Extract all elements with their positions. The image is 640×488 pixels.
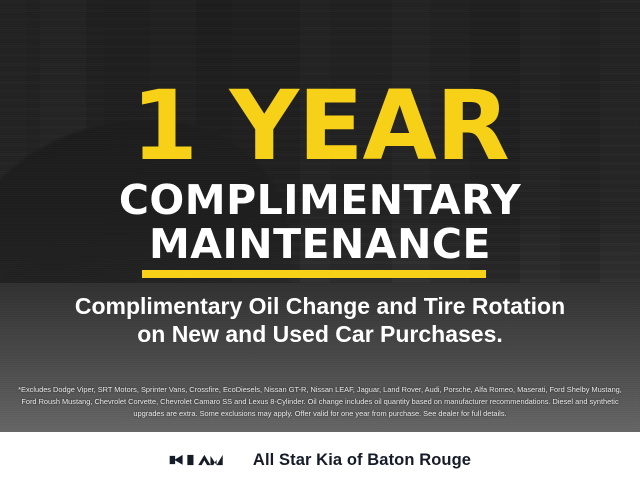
footer-bar: All Star Kia of Baton Rouge: [0, 432, 640, 488]
kia-logo: [169, 448, 237, 472]
banner-content: 1 YEAR COMPLIMENTARY MAINTENANCE Complim…: [0, 0, 640, 488]
yellow-divider-bar: [142, 270, 486, 278]
headline-year: 1 YEAR: [0, 78, 640, 174]
offer-description-line-2: on New and Used Car Purchases.: [0, 321, 640, 348]
promotional-banner: 1 YEAR COMPLIMENTARY MAINTENANCE Complim…: [0, 0, 640, 488]
dealer-name: All Star Kia of Baton Rouge: [253, 451, 471, 470]
offer-description-line-1: Complimentary Oil Change and Tire Rotati…: [0, 293, 640, 320]
headline-maintenance: MAINTENANCE: [0, 222, 640, 266]
headline-complimentary: COMPLIMENTARY: [0, 178, 640, 222]
disclaimer-text: *Excludes Dodge Viper, SRT Motors, Sprin…: [14, 384, 626, 419]
